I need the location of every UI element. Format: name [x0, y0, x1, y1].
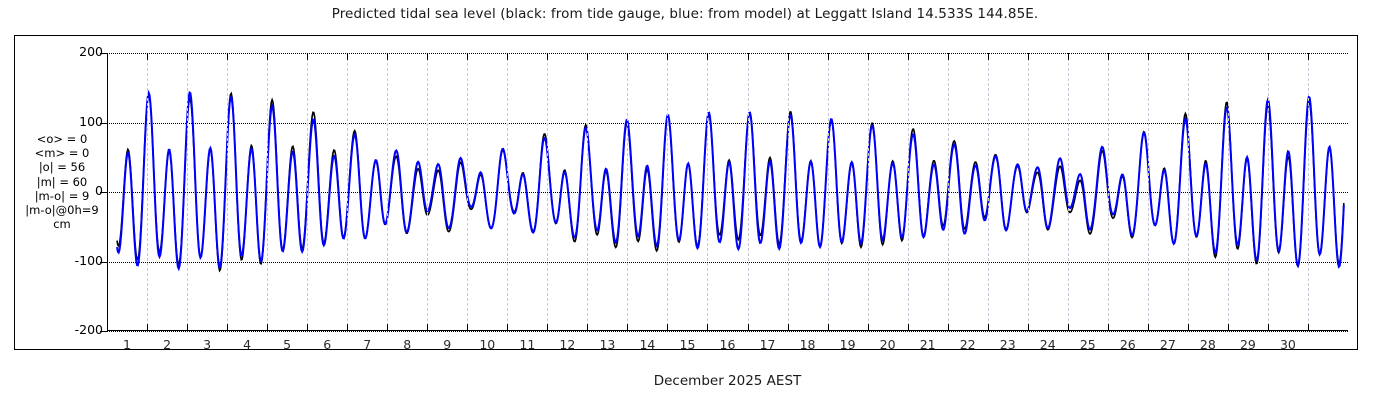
x-tick-label: 23: [988, 337, 1028, 352]
x-tick-label: 10: [467, 337, 507, 352]
x-tick-label: 4: [227, 337, 267, 352]
stat-mean-model: <m> = 0: [18, 146, 106, 160]
y-tick-label: -100: [43, 253, 103, 268]
x-tick-label: 8: [387, 337, 427, 352]
x-tick-label: 9: [427, 337, 467, 352]
x-tick-label: 13: [587, 337, 627, 352]
x-tick-label: 29: [1228, 337, 1268, 352]
x-tick-label: 16: [708, 337, 748, 352]
chart-title: Predicted tidal sea level (black: from t…: [0, 6, 1370, 22]
x-tick-label: 21: [908, 337, 948, 352]
stat-mean-observed: <o> = 0: [18, 132, 106, 146]
x-tick-label: 30: [1268, 337, 1308, 352]
x-tick-label: 27: [1148, 337, 1188, 352]
y-tick-label: -200: [43, 322, 103, 337]
x-tick-label: 20: [868, 337, 908, 352]
y-tick-label: 100: [43, 114, 103, 129]
x-tick-label: 7: [347, 337, 387, 352]
x-tick-label: 5: [267, 337, 307, 352]
x-tick-label: 6: [307, 337, 347, 352]
credit-wrap: © IMOS 18-Jun-2025 07:28:20. *Not for na…: [1362, 0, 1382, 400]
x-tick-label: 3: [187, 337, 227, 352]
stat-units: cm: [18, 217, 106, 231]
x-tick-label: 15: [667, 337, 707, 352]
x-tick-label: 26: [1108, 337, 1148, 352]
stat-rms-observed: |o| = 56: [18, 160, 106, 174]
y-tick-label: 200: [43, 44, 103, 59]
x-tick-label: 22: [948, 337, 988, 352]
stat-rms-difference-0h: |m-o|@0h=9: [18, 203, 106, 217]
x-tick-label: 1: [107, 337, 147, 352]
x-tick-label: 14: [627, 337, 667, 352]
statistics-block: <o> = 0 <m> = 0 |o| = 56 |m| = 60 |m-o| …: [18, 132, 106, 231]
y-gridline: [107, 331, 1348, 332]
plot-border: [107, 53, 1348, 331]
x-tick-label: 12: [547, 337, 587, 352]
x-tick-label: 2: [147, 337, 187, 352]
x-tick-label: 18: [788, 337, 828, 352]
x-tick-label: 17: [748, 337, 788, 352]
x-tick-label: 19: [828, 337, 868, 352]
x-tick-label: 28: [1188, 337, 1228, 352]
x-tick-label: 24: [1028, 337, 1068, 352]
x-tick-label: 25: [1068, 337, 1108, 352]
x-tick-label: 11: [507, 337, 547, 352]
x-axis-title: December 2025 AEST: [107, 373, 1348, 389]
y-tick-label: 0: [43, 183, 103, 198]
